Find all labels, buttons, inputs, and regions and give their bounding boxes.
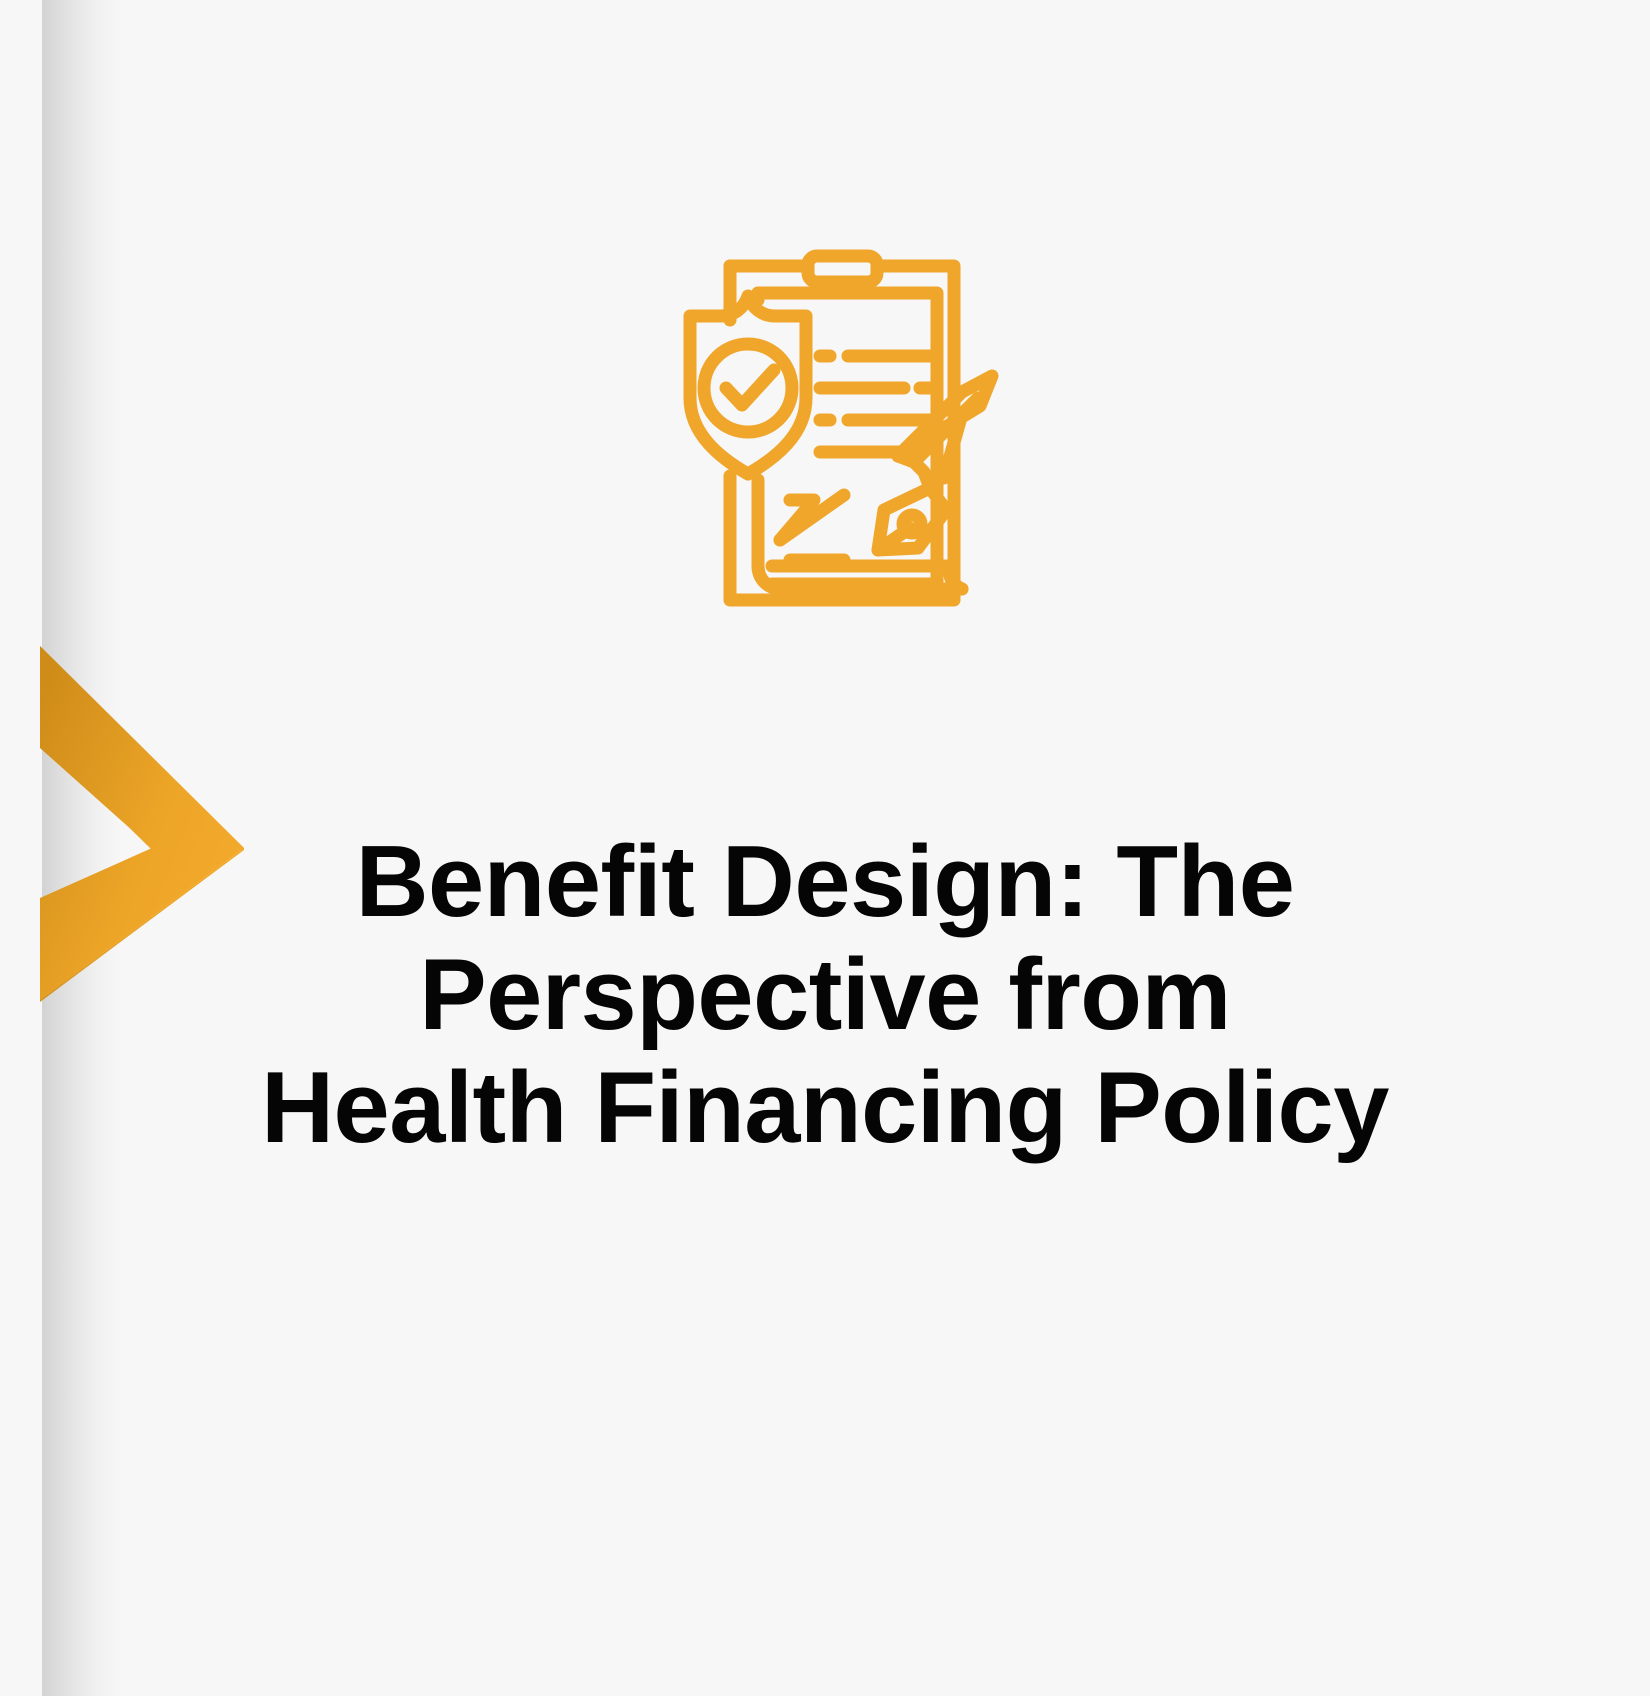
title-line-3: Health Financing Policy — [245, 1052, 1405, 1165]
title-line-2: Perspective from — [245, 939, 1405, 1052]
page-title: Benefit Design: The Perspective from Hea… — [245, 826, 1405, 1165]
slide-card: Benefit Design: The Perspective from Hea… — [0, 0, 1650, 1696]
signed-policy-document-icon — [662, 248, 1022, 620]
title-line-1: Benefit Design: The — [245, 826, 1405, 939]
